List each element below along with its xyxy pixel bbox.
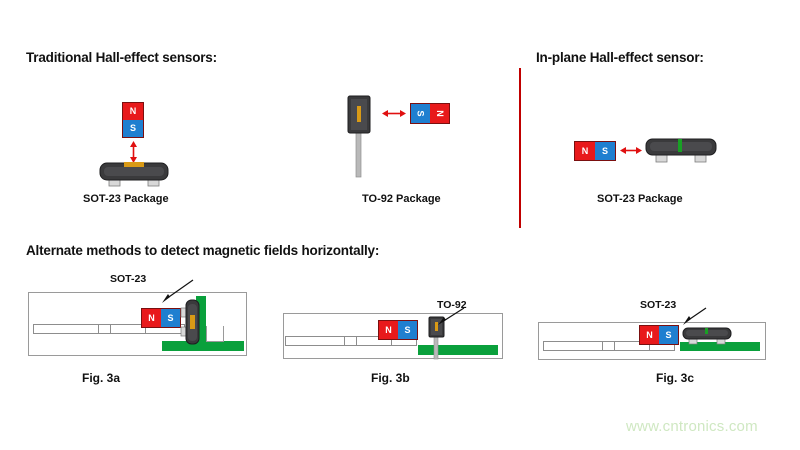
heading-inplane-sensor: In-plane Hall-effect sensor: [536, 50, 704, 65]
magnet-pole-south: S [659, 326, 678, 344]
section-divider-line [519, 68, 521, 228]
pointer-arrow-icon [432, 306, 466, 326]
rail-divider [602, 341, 603, 351]
figure-3c-magnet: N S [639, 325, 679, 345]
double-arrow-horizontal-icon [382, 108, 406, 119]
rail-divider [344, 336, 345, 346]
sot23-package-inplane [645, 134, 717, 166]
pointer-arrow-icon [155, 279, 195, 305]
figure-3a-annotation-label: SOT-23 [110, 273, 146, 285]
figure-3a-magnet: N S [141, 308, 181, 328]
rail-divider [98, 324, 99, 334]
magnet-pole-north: N [575, 142, 595, 160]
magnet-pole-north: N [123, 103, 143, 120]
figure-3c-annotation-label: SOT-23 [640, 299, 676, 311]
diagram-canvas: Traditional Hall-effect sensors: In-plan… [0, 0, 800, 450]
figure-3c-sot23-part [682, 325, 732, 347]
figure-3a-caption: Fig. 3a [82, 371, 120, 385]
caption-sot23-package-traditional: SOT-23 Package [83, 193, 169, 205]
magnet-pole-north-label: N [435, 110, 444, 117]
heading-traditional-sensors: Traditional Hall-effect sensors: [26, 50, 217, 65]
magnet-pole-north: N [142, 309, 161, 327]
magnet-vertical-sot23: N S [122, 102, 144, 138]
magnet-pole-north: N [430, 104, 449, 123]
magnet-horizontal-to92: S N [410, 103, 450, 124]
site-watermark: www.cntronics.com [626, 418, 758, 435]
magnet-horizontal-inplane: N S [574, 141, 616, 161]
magnet-pole-south: S [595, 142, 615, 160]
magnet-pole-south: S [161, 309, 180, 327]
caption-to92-package-traditional: TO-92 Package [362, 193, 441, 205]
double-arrow-horizontal-icon [620, 145, 642, 156]
figure-3a-sot23-part [180, 298, 202, 346]
caption-sot23-package-inplane: SOT-23 Package [597, 193, 683, 205]
heading-alternate-methods: Alternate methods to detect magnetic fie… [26, 243, 379, 258]
to92-package-traditional [344, 93, 374, 179]
sot23-package-traditional [99, 159, 169, 189]
magnet-pole-north: N [640, 326, 659, 344]
figure-3c-caption: Fig. 3c [656, 371, 694, 385]
magnet-pole-north: N [379, 321, 398, 339]
figure-3b-magnet: N S [378, 320, 418, 340]
magnet-pole-south-label: S [416, 110, 425, 116]
magnet-pole-south: S [411, 104, 430, 123]
figure-3a-pcb-base [162, 341, 244, 351]
figure-3a-bracket [206, 326, 224, 342]
magnet-pole-south: S [123, 120, 143, 137]
pointer-arrow-icon [678, 306, 708, 326]
figure-3b-caption: Fig. 3b [371, 371, 410, 385]
magnet-pole-south: S [398, 321, 417, 339]
